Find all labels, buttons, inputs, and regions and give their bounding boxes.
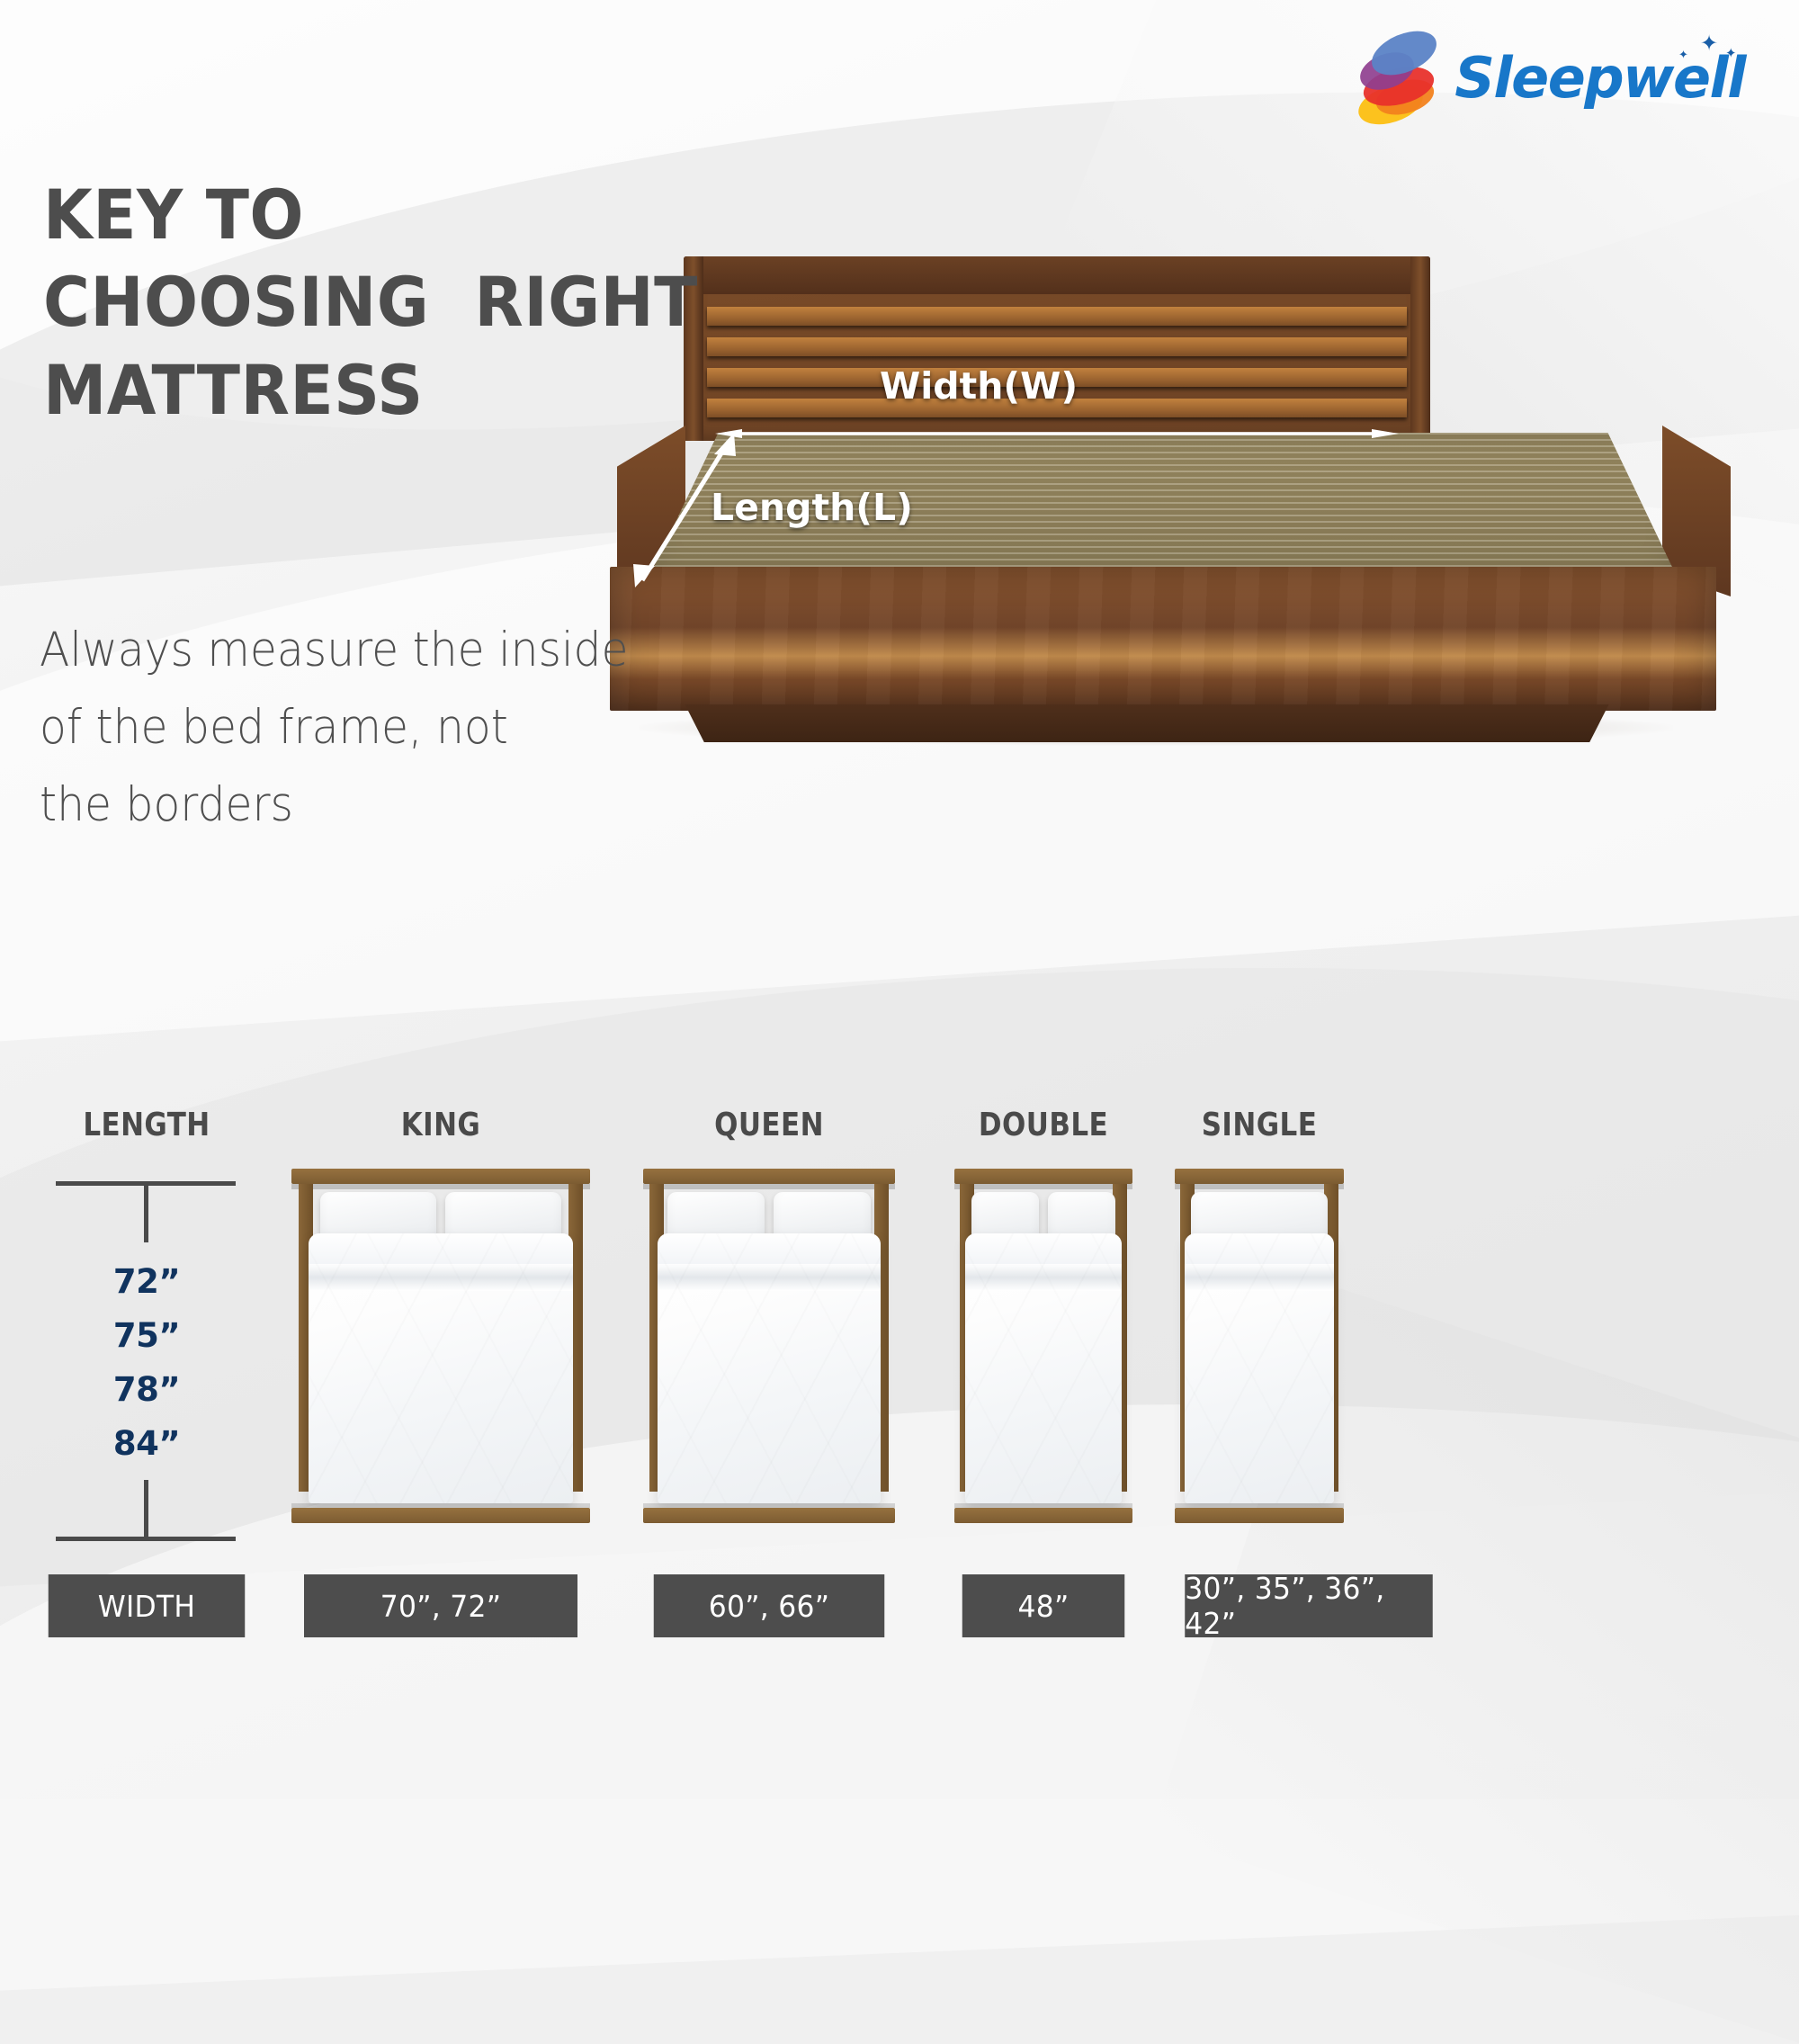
size-column-king: KING [297,1107,585,1523]
length-value: 84” [43,1417,250,1471]
length-column-header: LENGTH [58,1107,236,1143]
double-width-plate: 48” [962,1574,1125,1637]
single-column-header: SINGLE [1190,1107,1329,1143]
page-subtitle: Always measure the inside of the bed fra… [40,612,628,844]
page-subtitle-line-1: Always measure the inside [40,612,628,689]
bed-single-icon [1178,1169,1340,1523]
single-width-plate: 30”, 35”, 36”, 42” [1185,1574,1433,1637]
ruler-bottom-stem [144,1480,148,1541]
double-arrow-horizontal-icon [715,429,1399,438]
king-width-plate: 70”, 72” [304,1574,577,1637]
king-column-header: KING [317,1107,564,1143]
bed-king-icon [297,1169,585,1523]
page-subtitle-line-2: of the bed frame, not [40,689,628,766]
length-values: 72” 75” 78” 84” [43,1255,250,1471]
size-column-queen: QUEEN [648,1107,891,1523]
bed-plinth [666,704,1628,742]
page-title: KEY TO CHOOSING RIGHT MATTRESS [43,171,698,434]
length-value: 78” [43,1363,250,1417]
page-title-line-3: MATTRESS [43,346,698,434]
bed-headboard [684,256,1430,441]
size-column-double: DOUBLE [958,1107,1129,1523]
bed-double-icon [958,1169,1129,1523]
size-column-single: SINGLE [1178,1107,1340,1523]
width-label-plate: WIDTH [49,1574,246,1637]
queen-width-plate: 60”, 66” [654,1574,885,1637]
width-dimension-label: Width(W) [880,364,1078,408]
page-title-line-1: KEY TO [43,171,698,258]
length-dimension-label: Length(L) [711,486,913,529]
length-ruler: 72” 75” 78” 84” [43,1181,250,1541]
queen-column-header: QUEEN [665,1107,873,1143]
page-title-line-2: CHOOSING RIGHT [43,258,698,345]
brand-name: ✦ ✦ ✦ Sleepwell [1454,45,1745,111]
length-ruler-column: LENGTH 72” 75” 78” 84” [43,1107,250,1541]
bed-footboard [610,567,1716,711]
page-subtitle-line-3: the borders [40,766,628,844]
ruler-top-stem [144,1181,148,1242]
length-value: 72” [43,1255,250,1309]
sleepwell-swoosh-icon [1356,31,1438,124]
size-comparison-section: LENGTH 72” 75” 78” 84” KING QUEEN [0,1107,1799,1736]
bed-queen-icon [648,1169,891,1523]
hero-bed-image: Width(W) Length(L) [576,256,1772,733]
double-column-header: DOUBLE [970,1107,1116,1143]
length-value: 75” [43,1309,250,1363]
brand-logo[interactable]: ✦ ✦ ✦ Sleepwell [1356,31,1745,124]
